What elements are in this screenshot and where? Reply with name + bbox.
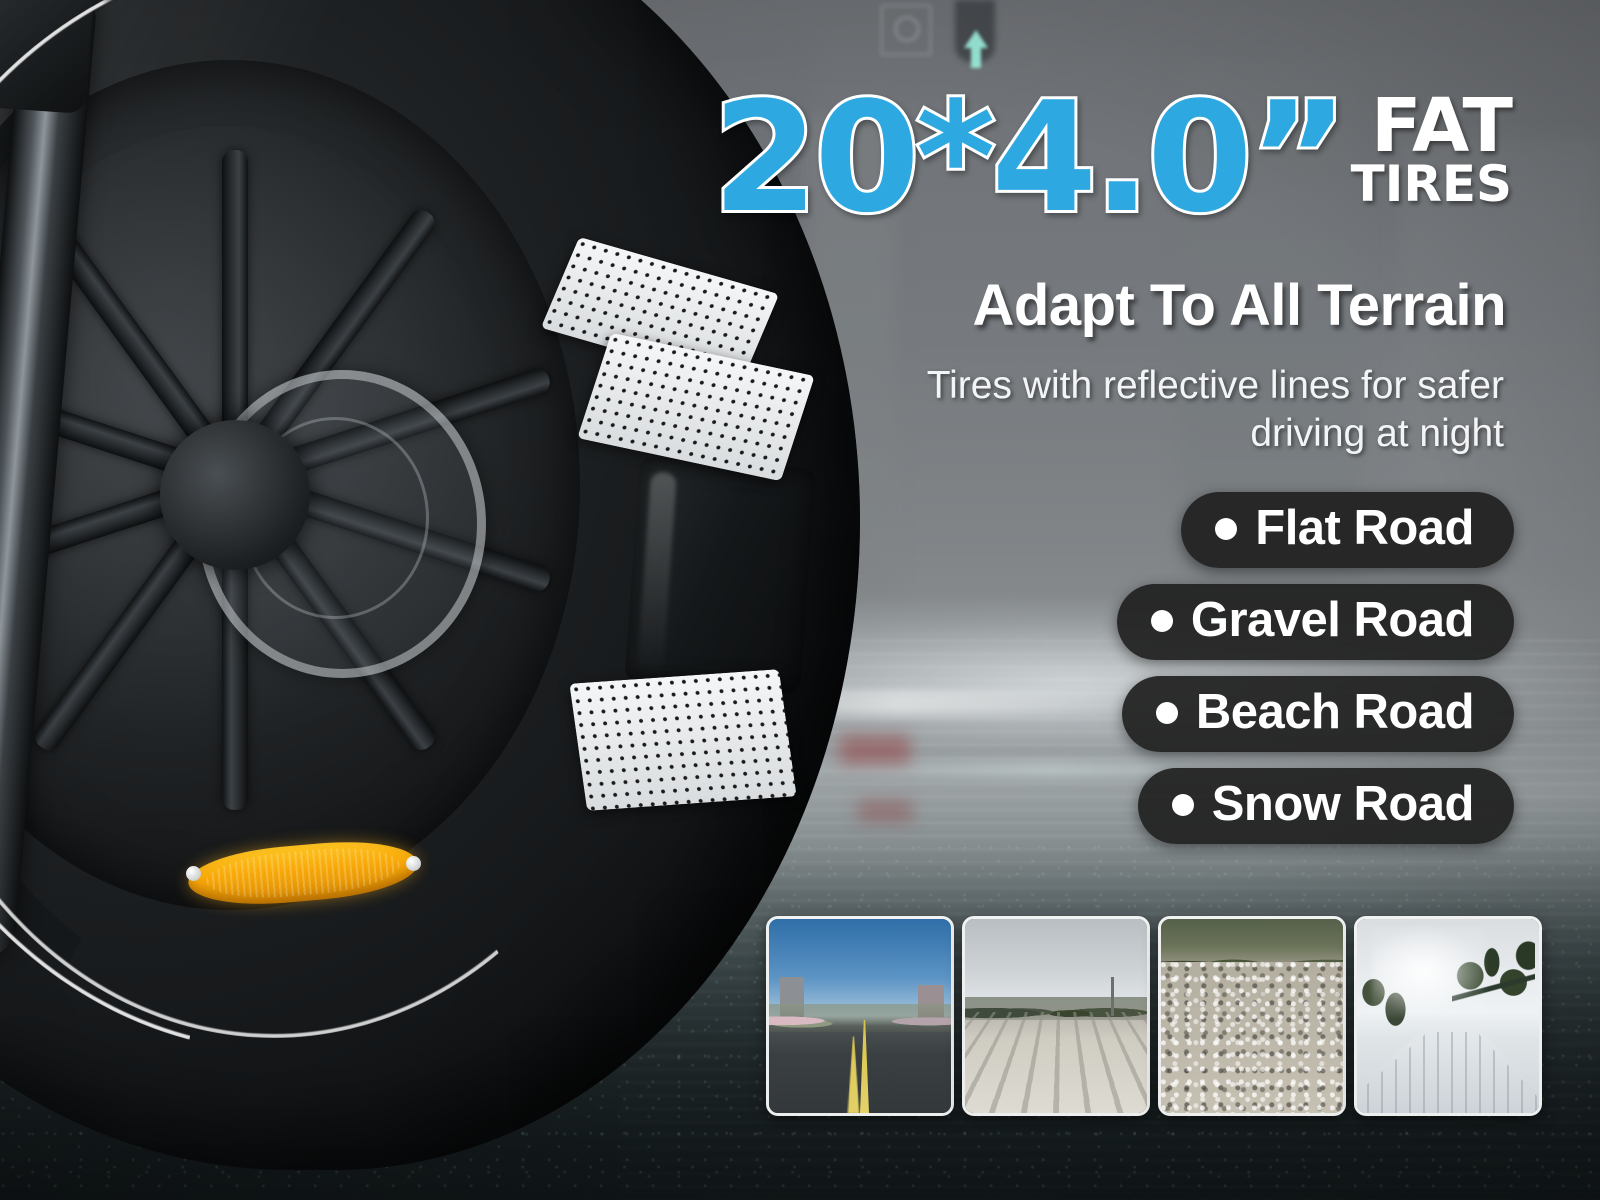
bullet-dot-icon — [1151, 610, 1173, 632]
thumbnail-dirt-sand-road[interactable] — [962, 916, 1150, 1116]
bullet-dot-icon — [1156, 702, 1178, 724]
thumbnail-rocky-gravel-road[interactable] — [1158, 916, 1346, 1116]
feature-label: Snow Road — [1212, 779, 1474, 831]
feature-pill-beach-road[interactable]: Beach Road — [1122, 676, 1514, 752]
thumb-roadside-trees — [769, 1004, 951, 1031]
headline-block: 20*4.0” FAT TIRES — [712, 86, 1512, 230]
feature-pill-snow-road[interactable]: Snow Road — [1138, 768, 1514, 844]
thumb-road-ruts — [962, 1012, 1150, 1116]
fat-text: FAT — [1371, 94, 1512, 159]
tires-text: TIRES — [1351, 159, 1512, 209]
description-text: Tires with reflective lines for safer dr… — [864, 362, 1504, 457]
feature-pill-flat-road[interactable]: Flat Road — [1181, 492, 1514, 568]
thumbnail-snowy-forest-road[interactable] — [1354, 916, 1542, 1116]
terrain-feature-list: Flat Road Gravel Road Beach Road Snow Ro… — [1117, 492, 1514, 844]
fat-tires-label: FAT TIRES — [1351, 94, 1512, 209]
thumbnail-art — [1357, 919, 1539, 1113]
thumbnail-art — [769, 919, 951, 1113]
feature-label: Beach Road — [1196, 687, 1474, 739]
thumb-tire-tracks — [1354, 1032, 1542, 1113]
thumbnail-art — [1161, 919, 1343, 1113]
tire-size-text: 20*4.0” — [712, 86, 1344, 230]
terrain-thumbnail-strip — [766, 916, 1542, 1116]
thumb-snow-cloud — [1372, 927, 1485, 1016]
thumbnail-paved-highway[interactable] — [766, 916, 954, 1116]
bullet-dot-icon — [1215, 518, 1237, 540]
product-banner: 20*4.0” FAT TIRES Adapt To All Terrain T… — [0, 0, 1600, 1200]
thumbnail-art — [965, 919, 1147, 1113]
subtitle-text: Adapt To All Terrain — [973, 272, 1507, 339]
thumb-utility-pole — [1111, 977, 1114, 1016]
marketing-content: 20*4.0” FAT TIRES Adapt To All Terrain T… — [640, 0, 1600, 1200]
bullet-dot-icon — [1172, 794, 1194, 816]
feature-label: Flat Road — [1255, 503, 1474, 555]
feature-pill-gravel-road[interactable]: Gravel Road — [1117, 584, 1514, 660]
feature-label: Gravel Road — [1191, 595, 1474, 647]
thumb-gravel-surface — [1161, 962, 1343, 1113]
